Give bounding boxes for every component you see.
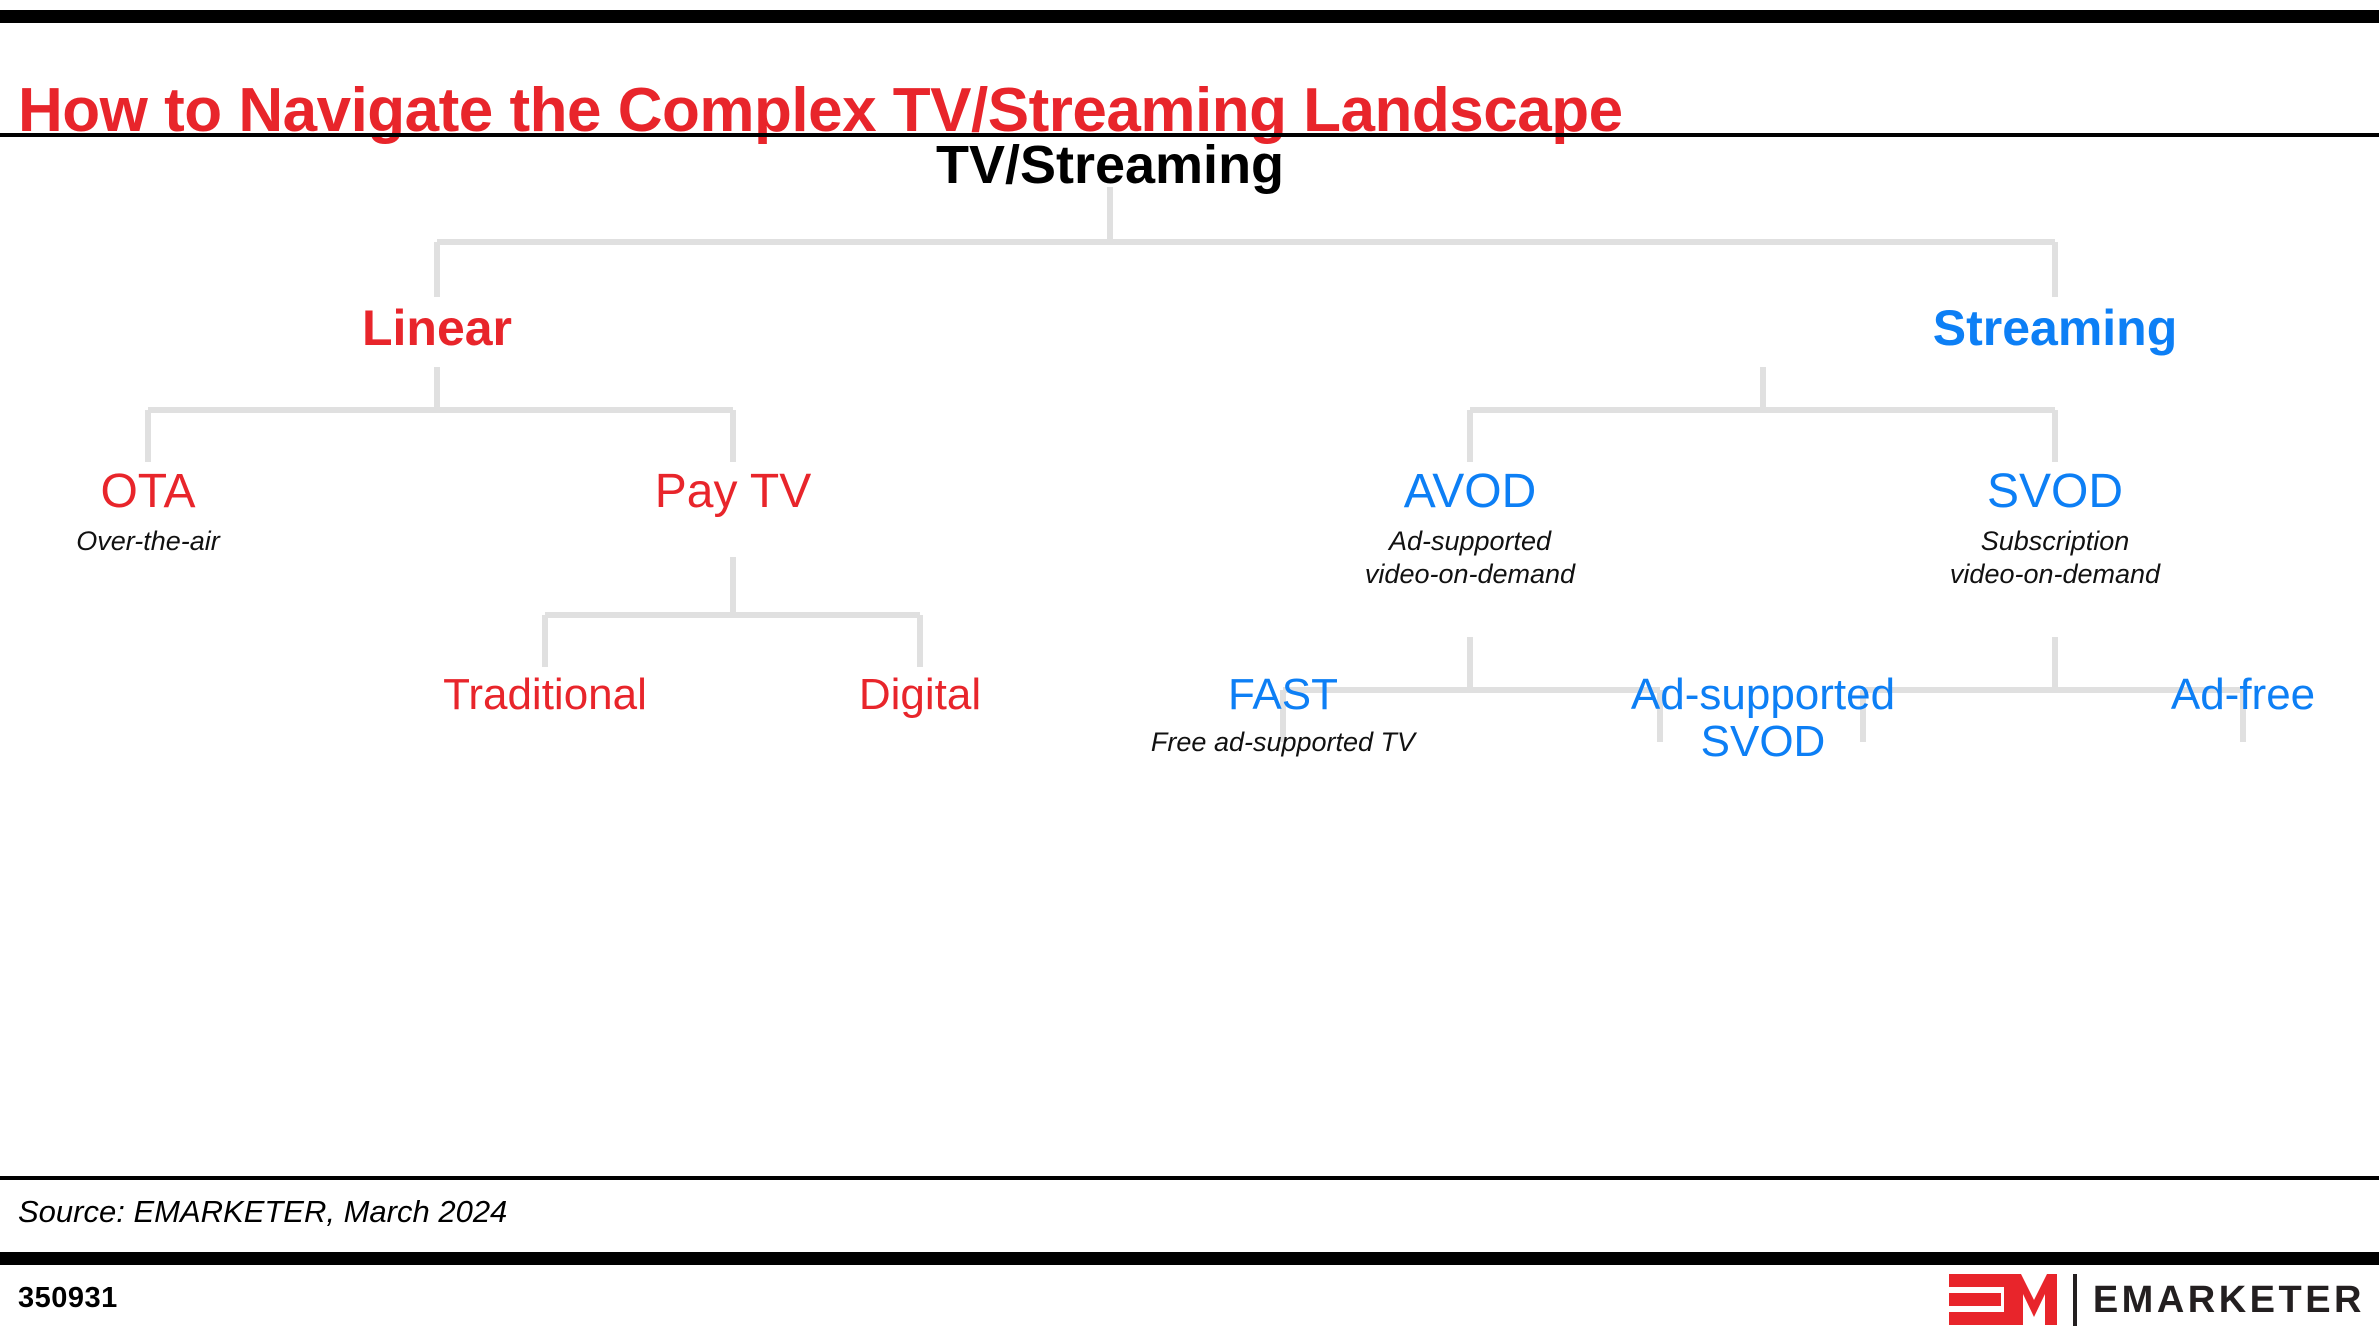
node-fast-subtitle: Free ad-supported TV [1151, 726, 1415, 759]
chart-id: 350931 [18, 1282, 118, 1315]
node-ad-supported-svod-label: Ad-supported SVOD [1598, 672, 1928, 765]
node-linear[interactable]: Linear [362, 302, 512, 355]
source-divider-rule [0, 1176, 2379, 1180]
node-traditional-label: Traditional [443, 672, 647, 719]
node-digital[interactable]: Digital [859, 672, 981, 719]
node-avod-label: AVOD [1365, 467, 1575, 518]
node-svod-subtitle-line1: Subscription [1950, 525, 2160, 558]
node-tv-streaming[interactable]: TV/Streaming [936, 137, 1284, 194]
em-logo-icon [1949, 1272, 2057, 1328]
footer-black-bar [0, 1252, 2379, 1265]
node-avod-subtitle-line1: Ad-supported [1365, 525, 1575, 558]
node-fast-label: FAST [1151, 672, 1415, 719]
node-ad-supported-svod[interactable]: Ad-supported SVOD [1598, 672, 1928, 765]
node-streaming-label: Streaming [1933, 302, 2178, 355]
node-ad-free[interactable]: Ad-free [2171, 672, 2315, 719]
node-tv-streaming-label: TV/Streaming [936, 137, 1284, 194]
node-ota-subtitle: Over-the-air [76, 525, 220, 558]
node-avod-subtitle-line2: video-on-demand [1365, 558, 1575, 591]
connector-lines [0, 137, 2379, 1176]
node-avod[interactable]: AVOD Ad-supported video-on-demand [1365, 467, 1575, 591]
infographic-page: How to Navigate the Complex TV/Streaming… [0, 0, 2379, 1338]
node-svod[interactable]: SVOD Subscription video-on-demand [1950, 467, 2160, 591]
brand-wordmark: EMARKETER [2093, 1281, 2365, 1319]
emarketer-branding: EMARKETER [1949, 1272, 2365, 1328]
top-black-bar [0, 10, 2379, 23]
node-svod-label: SVOD [1950, 467, 2160, 518]
node-ota-label: OTA [76, 467, 220, 518]
node-svod-subtitle-line2: video-on-demand [1950, 558, 2160, 591]
node-fast[interactable]: FAST Free ad-supported TV [1151, 672, 1415, 759]
tree-diagram: TV/Streaming Linear Streaming OTA Over-t… [0, 137, 2379, 1176]
source-note: Source: EMARKETER, March 2024 [18, 1194, 507, 1230]
node-linear-label: Linear [362, 302, 512, 355]
node-pay-tv[interactable]: Pay TV [655, 467, 812, 518]
brand-divider [2073, 1274, 2077, 1326]
node-streaming[interactable]: Streaming [1933, 302, 2178, 355]
node-ota[interactable]: OTA Over-the-air [76, 467, 220, 558]
node-ad-free-label: Ad-free [2171, 672, 2315, 719]
node-pay-tv-label: Pay TV [655, 467, 812, 518]
node-digital-label: Digital [859, 672, 981, 719]
node-traditional[interactable]: Traditional [443, 672, 647, 719]
